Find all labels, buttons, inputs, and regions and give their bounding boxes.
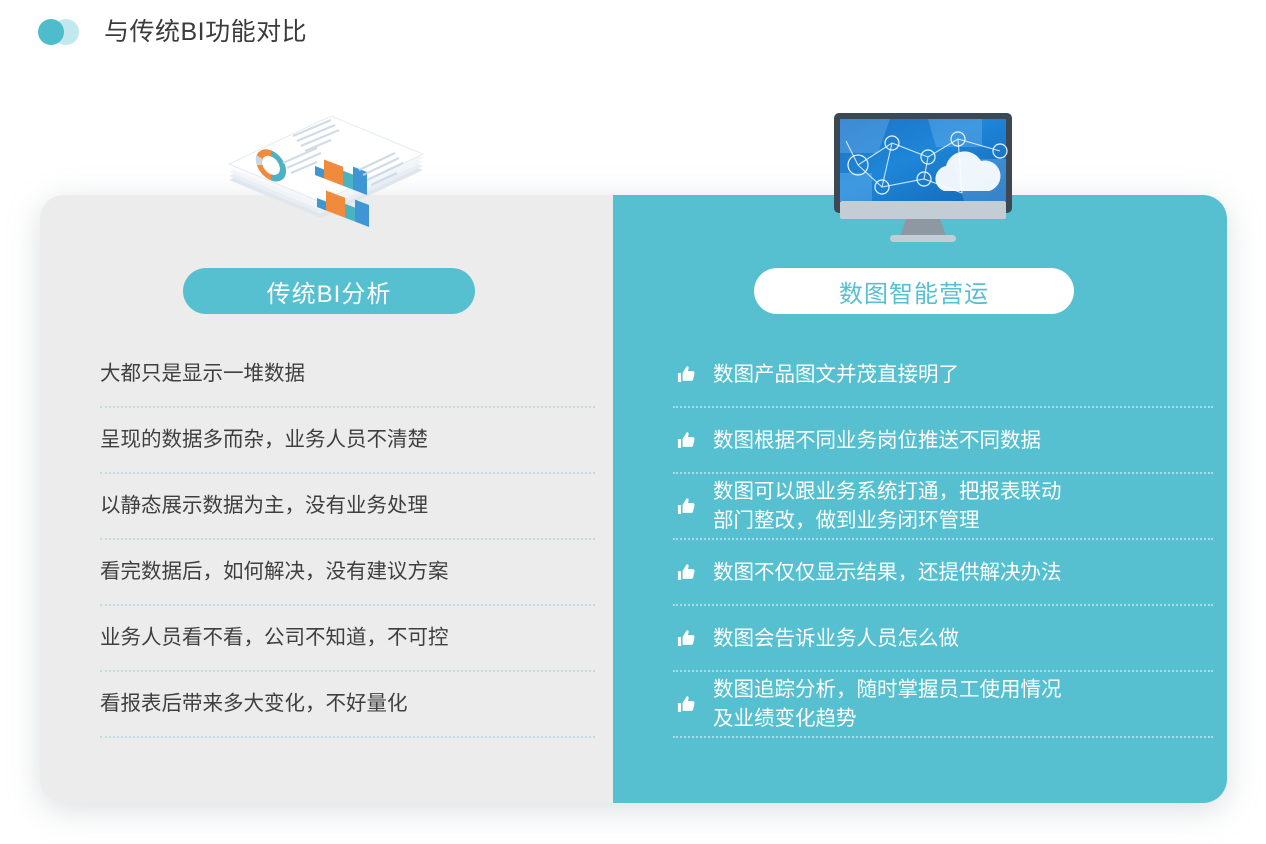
thumbs-up-icon bbox=[673, 628, 699, 649]
list-item: 数图不仅仅显示结果，还提供解决办法 bbox=[673, 540, 1213, 606]
traditional-bi-heading: 传统BI分析 bbox=[183, 268, 475, 314]
traditional-bi-panel: 传统BI分析 大都只是显示一堆数据 呈现的数据多而杂，业务人员不清楚 以静态展示… bbox=[40, 195, 613, 803]
shutu-intelligent-panel: 数图智能营运 数图产品图文并茂直接明了 数图根据不同业务岗位推送不同数据 数图可… bbox=[613, 195, 1227, 803]
list-item-label: 看报表后带来多大变化，不好量化 bbox=[100, 689, 408, 719]
list-item-label: 以静态展示数据为主，没有业务处理 bbox=[100, 491, 428, 521]
two-overlapping-circles-icon bbox=[36, 15, 92, 45]
traditional-bi-item-list: 大都只是显示一堆数据 呈现的数据多而杂，业务人员不清楚 以静态展示数据为主，没有… bbox=[40, 342, 613, 738]
list-item-label: 呈现的数据多而杂，业务人员不清楚 bbox=[100, 425, 428, 455]
circle-faded-icon bbox=[53, 19, 79, 45]
list-item: 大都只是显示一堆数据 bbox=[100, 342, 595, 408]
thumbs-up-icon bbox=[673, 496, 699, 517]
list-item: 看完数据后，如何解决，没有建议方案 bbox=[100, 540, 595, 606]
list-item-label: 数图产品图文并茂直接明了 bbox=[713, 360, 959, 389]
shutu-item-list: 数图产品图文并茂直接明了 数图根据不同业务岗位推送不同数据 数图可以跟业务系统打… bbox=[613, 342, 1227, 738]
list-item-label: 数图会告诉业务人员怎么做 bbox=[713, 624, 959, 653]
page-header: 与传统BI功能对比 bbox=[0, 0, 1266, 60]
list-item: 数图会告诉业务人员怎么做 bbox=[673, 606, 1213, 672]
list-item-label: 业务人员看不看，公司不知道，不可控 bbox=[100, 623, 449, 653]
list-item: 数图可以跟业务系统打通，把报表联动 部门整改，做到业务闭环管理 bbox=[673, 474, 1213, 540]
list-item-label: 数图可以跟业务系统打通，把报表联动 部门整改，做到业务闭环管理 bbox=[713, 477, 1062, 535]
list-item-label: 大都只是显示一堆数据 bbox=[100, 359, 305, 389]
thumbs-up-icon bbox=[673, 430, 699, 451]
list-item-label: 看完数据后，如何解决，没有建议方案 bbox=[100, 557, 449, 587]
list-item-label: 数图根据不同业务岗位推送不同数据 bbox=[713, 426, 1041, 455]
thumbs-up-icon bbox=[673, 364, 699, 385]
list-item: 看报表后带来多大变化，不好量化 bbox=[100, 672, 595, 738]
list-item: 数图产品图文并茂直接明了 bbox=[673, 342, 1213, 408]
list-item: 业务人员看不看，公司不知道，不可控 bbox=[100, 606, 595, 672]
list-item: 数图追踪分析，随时掌握员工使用情况 及业绩变化趋势 bbox=[673, 672, 1213, 738]
list-item-label: 数图追踪分析，随时掌握员工使用情况 及业绩变化趋势 bbox=[713, 675, 1062, 733]
list-item-label: 数图不仅仅显示结果，还提供解决办法 bbox=[713, 558, 1062, 587]
list-item: 呈现的数据多而杂，业务人员不清楚 bbox=[100, 408, 595, 474]
thumbs-up-icon bbox=[673, 694, 699, 715]
shutu-heading: 数图智能营运 bbox=[754, 268, 1074, 314]
comparison-panels: 传统BI分析 大都只是显示一堆数据 呈现的数据多而杂，业务人员不清楚 以静态展示… bbox=[40, 195, 1227, 803]
list-item: 以静态展示数据为主，没有业务处理 bbox=[100, 474, 595, 540]
thumbs-up-icon bbox=[673, 562, 699, 583]
stacked-report-documents-icon bbox=[213, 108, 438, 233]
page-title: 与传统BI功能对比 bbox=[104, 12, 307, 48]
desktop-monitor-cloud-network-icon bbox=[832, 113, 1014, 248]
list-item: 数图根据不同业务岗位推送不同数据 bbox=[673, 408, 1213, 474]
